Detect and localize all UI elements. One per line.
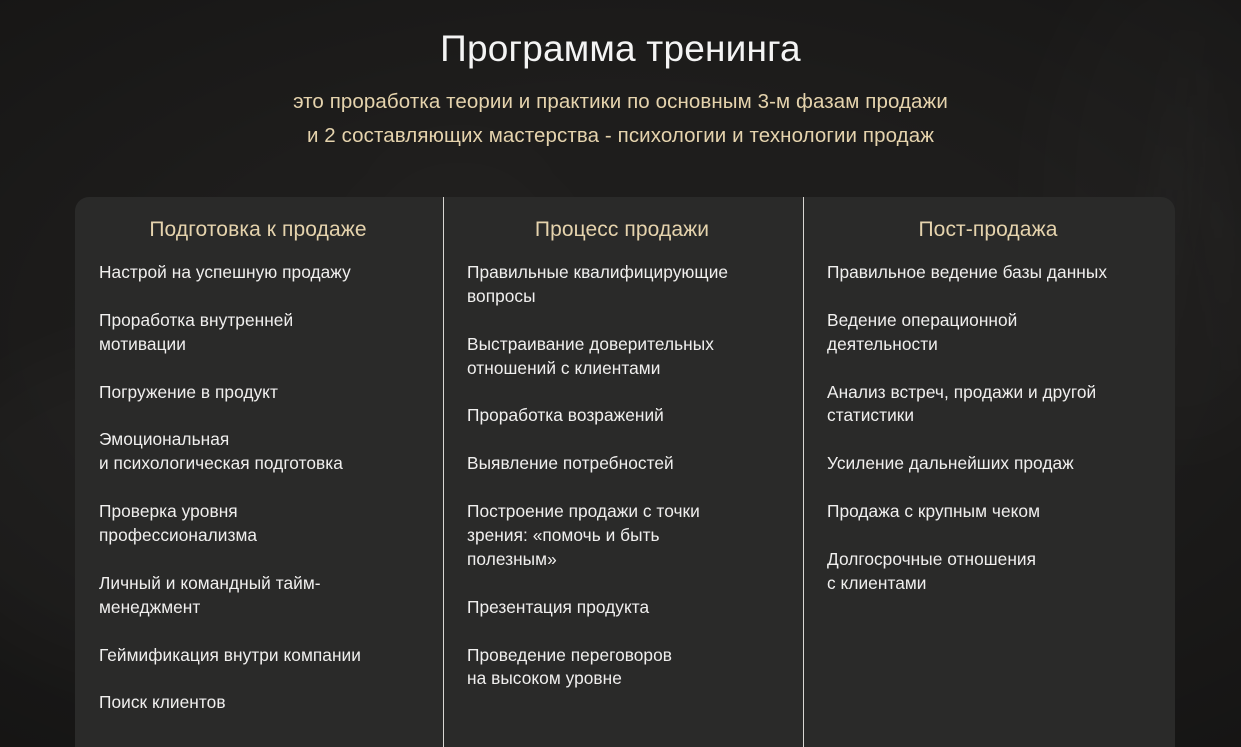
list-item-line: Усиление дальнейших продаж — [827, 452, 1149, 476]
page-subtitle: это проработка теории и практики по осно… — [0, 85, 1241, 151]
list-item-line: Выстраивание доверительных — [467, 333, 777, 357]
list-item: Геймификация внутри компании — [99, 644, 417, 668]
list-item: Эмоциональнаяи психологическая подготовк… — [99, 428, 417, 476]
list-item-line: Проработка возражений — [467, 404, 777, 428]
list-item-line: Проверка уровня — [99, 500, 417, 524]
list-item: Выявление потребностей — [467, 452, 777, 476]
list-item-line: профессионализма — [99, 524, 417, 548]
column-list-post-sale: Правильное ведение базы данныхВедение оп… — [827, 261, 1149, 596]
list-item-line: отношений с клиентами — [467, 357, 777, 381]
column-post-sale: Пост-продажа Правильное ведение базы дан… — [803, 197, 1175, 747]
list-item-line: Поиск клиентов — [99, 691, 417, 715]
list-item-line: менеджмент — [99, 596, 417, 620]
list-item-line: Настрой на успешную продажу — [99, 261, 417, 285]
column-sales-process: Процесс продажи Правильные квалифицирующ… — [443, 197, 803, 747]
list-item: Ведение операционнойдеятельности — [827, 309, 1149, 357]
column-preparation: Подготовка к продаже Настрой на успешную… — [75, 197, 443, 747]
list-item-line: и психологическая подготовка — [99, 452, 417, 476]
column-list-sales-process: Правильные квалифицирующиевопросыВыстраи… — [467, 261, 777, 691]
column-list-preparation: Настрой на успешную продажуПроработка вн… — [99, 261, 417, 715]
list-item-line: Погружение в продукт — [99, 381, 417, 405]
list-item: Усиление дальнейших продаж — [827, 452, 1149, 476]
list-item: Погружение в продукт — [99, 381, 417, 405]
list-item: Проработка возражений — [467, 404, 777, 428]
column-title-post-sale: Пост-продажа — [827, 218, 1149, 242]
list-item-line: Продажа с крупным чеком — [827, 500, 1149, 524]
list-item-line: зрения: «помочь и быть — [467, 524, 777, 548]
list-item: Долгосрочные отношенияс клиентами — [827, 548, 1149, 596]
column-title-preparation: Подготовка к продаже — [99, 218, 417, 242]
program-card: Подготовка к продаже Настрой на успешную… — [75, 197, 1175, 747]
list-item-line: Геймификация внутри компании — [99, 644, 417, 668]
list-item-line: Личный и командный тайм- — [99, 572, 417, 596]
list-item-line: статистики — [827, 404, 1149, 428]
list-item-line: на высоком уровне — [467, 667, 777, 691]
page-subtitle-line-2: и 2 составляющих мастерства - психологии… — [0, 119, 1241, 152]
heading-block: Программа тренинга это проработка теории… — [0, 0, 1241, 152]
list-item-line: Проведение переговоров — [467, 644, 777, 668]
list-item: Проработка внутреннеймотивации — [99, 309, 417, 357]
list-item: Проверка уровняпрофессионализма — [99, 500, 417, 548]
list-item: Построение продажи с точкизрения: «помоч… — [467, 500, 777, 572]
list-item-line: мотивации — [99, 333, 417, 357]
list-item-line: Анализ встреч, продажи и другой — [827, 381, 1149, 405]
page-subtitle-line-1: это проработка теории и практики по осно… — [0, 85, 1241, 118]
list-item: Презентация продукта — [467, 596, 777, 620]
list-item-line: Презентация продукта — [467, 596, 777, 620]
list-item-line: вопросы — [467, 285, 777, 309]
list-item: Поиск клиентов — [99, 691, 417, 715]
list-item: Анализ встреч, продажи и другойстатистик… — [827, 381, 1149, 429]
list-item-line: Проработка внутренней — [99, 309, 417, 333]
list-item: Правильные квалифицирующиевопросы — [467, 261, 777, 309]
list-item: Выстраивание доверительныхотношений с кл… — [467, 333, 777, 381]
list-item-line: Правильные квалифицирующие — [467, 261, 777, 285]
list-item: Настрой на успешную продажу — [99, 261, 417, 285]
column-title-sales-process: Процесс продажи — [467, 218, 777, 242]
list-item: Проведение переговоровна высоком уровне — [467, 644, 777, 692]
list-item-line: полезным» — [467, 548, 777, 572]
list-item-line: Правильное ведение базы данных — [827, 261, 1149, 285]
list-item-line: Долгосрочные отношения — [827, 548, 1149, 572]
list-item-line: Построение продажи с точки — [467, 500, 777, 524]
training-program-slide: Программа тренинга это проработка теории… — [0, 0, 1241, 747]
list-item-line: Эмоциональная — [99, 428, 417, 452]
list-item: Правильное ведение базы данных — [827, 261, 1149, 285]
list-item-line: деятельности — [827, 333, 1149, 357]
list-item-line: Выявление потребностей — [467, 452, 777, 476]
list-item-line: с клиентами — [827, 572, 1149, 596]
page-title: Программа тренинга — [0, 27, 1241, 71]
list-item-line: Ведение операционной — [827, 309, 1149, 333]
list-item: Продажа с крупным чеком — [827, 500, 1149, 524]
list-item: Личный и командный тайм-менеджмент — [99, 572, 417, 620]
